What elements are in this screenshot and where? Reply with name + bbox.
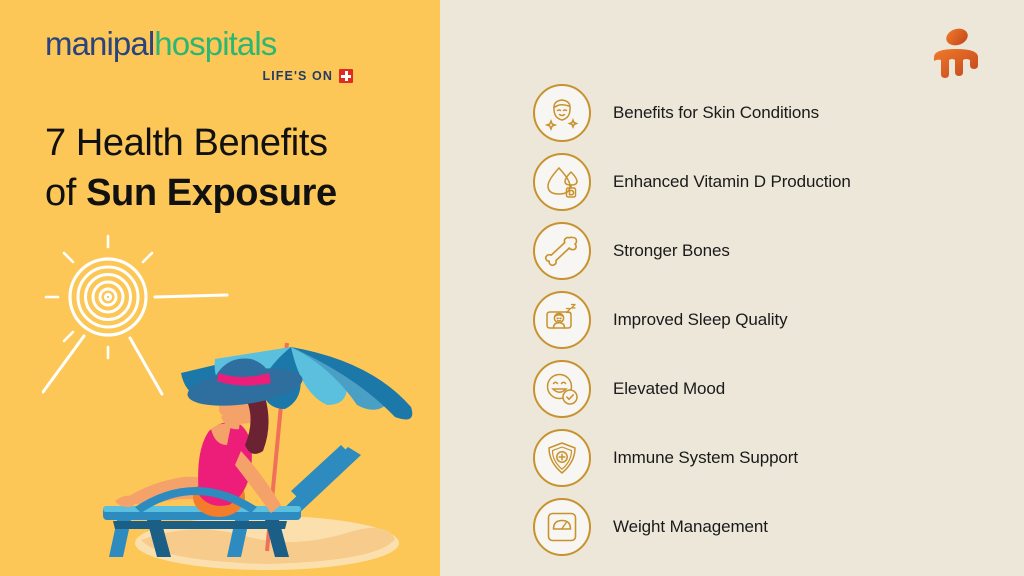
infographic-poster: manipalhospitals LIFE'S ON 7 Health Bene… xyxy=(0,0,1024,576)
logo-word-hospitals: hospitals xyxy=(154,25,276,62)
manipal-brandmark-icon xyxy=(930,27,982,82)
face-sparkle-icon xyxy=(533,84,591,142)
right-content-panel: Benefits for Skin Conditions Enhanced Vi… xyxy=(440,0,1024,576)
benefit-label: Benefits for Skin Conditions xyxy=(613,103,819,123)
benefit-item-stronger-bones[interactable]: Stronger Bones xyxy=(533,222,1003,280)
benefit-item-vitamin-d[interactable]: Enhanced Vitamin D Production xyxy=(533,153,1003,211)
logo-tagline-text: LIFE'S ON xyxy=(262,69,333,83)
benefit-item-elevated-mood[interactable]: Elevated Mood xyxy=(533,360,1003,418)
benefit-label: Immune System Support xyxy=(613,448,798,468)
beach-scene-illustration xyxy=(95,325,440,576)
benefits-list: Benefits for Skin Conditions Enhanced Vi… xyxy=(533,84,1003,567)
benefit-label: Weight Management xyxy=(613,517,768,537)
smiley-check-icon xyxy=(533,360,591,418)
logo-word-manipal: manipal xyxy=(45,25,154,62)
bone-icon xyxy=(533,222,591,280)
sleeping-person-icon xyxy=(533,291,591,349)
benefit-label: Stronger Bones xyxy=(613,241,730,261)
benefit-item-weight-management[interactable]: Weight Management xyxy=(533,498,1003,556)
logo-wordmark: manipalhospitals xyxy=(45,27,355,60)
benefit-label: Enhanced Vitamin D Production xyxy=(613,172,851,192)
logo-tagline: LIFE'S ON xyxy=(45,69,355,83)
page-title-line2: of Sun Exposure xyxy=(45,168,425,218)
benefit-label: Elevated Mood xyxy=(613,379,725,399)
vitamin-d-droplet-icon xyxy=(533,153,591,211)
page-title-line1: 7 Health Benefits xyxy=(45,118,425,168)
page-title: 7 Health Benefits of Sun Exposure xyxy=(45,118,425,218)
benefit-item-sleep-quality[interactable]: Improved Sleep Quality xyxy=(533,291,1003,349)
shield-plus-icon xyxy=(533,429,591,487)
page-title-emphasis: Sun Exposure xyxy=(86,172,337,214)
left-yellow-panel: manipalhospitals LIFE'S ON 7 Health Bene… xyxy=(0,0,440,576)
benefit-item-skin-conditions[interactable]: Benefits for Skin Conditions xyxy=(533,84,1003,142)
weight-scale-icon xyxy=(533,498,591,556)
benefit-label: Improved Sleep Quality xyxy=(613,310,788,330)
medical-cross-icon xyxy=(339,69,353,83)
benefit-item-immune-support[interactable]: Immune System Support xyxy=(533,429,1003,487)
page-title-line2-prefix: of xyxy=(45,172,86,214)
manipal-hospitals-logo: manipalhospitals LIFE'S ON xyxy=(45,27,355,83)
